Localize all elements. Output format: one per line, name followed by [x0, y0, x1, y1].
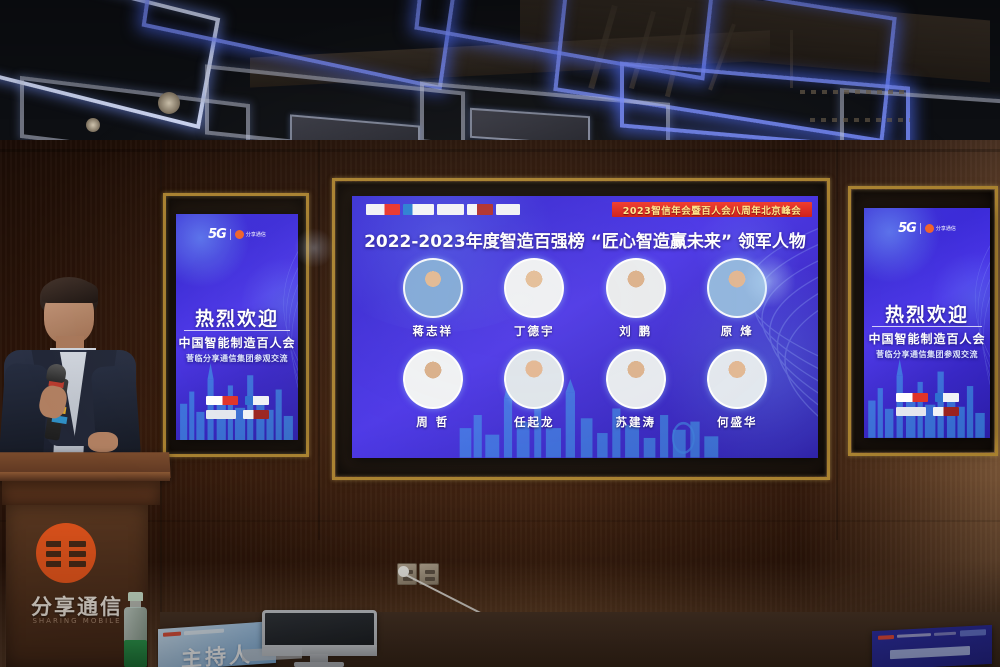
side-right-welcome-3: 菅临分享通信集团参观交流 [864, 349, 990, 360]
side-screen-right: 5G 分享通信 热烈欢迎 中国智能制造百人会 菅临分享通信集团参观交流 [864, 208, 990, 438]
side-left-welcome-3: 菅临分享通信集团参观交流 [176, 353, 298, 364]
leader-item: 何盛华 [687, 349, 789, 430]
side-right-sponsors [864, 393, 990, 416]
side-left-welcome-1: 热烈欢迎 [176, 304, 298, 331]
logo-chip-1 [366, 204, 400, 215]
side-left-brand-label: 分享通信 [246, 231, 266, 238]
side-left-brand: 分享通信 [235, 230, 266, 239]
speaker-hand [88, 432, 118, 452]
sponsor-chip-blue [935, 393, 959, 402]
leader-item: 任起龙 [484, 349, 586, 430]
logo-chip-3 [437, 204, 464, 215]
leader-name: 丁德宇 [514, 323, 555, 339]
side-right-brand: 分享通信 [925, 224, 956, 233]
leader-item: 刘 鹏 [585, 258, 687, 339]
leader-name: 原 烽 [721, 323, 754, 339]
blue-name-card [872, 625, 992, 667]
sponsor-chip-red [896, 393, 928, 402]
water-bottle [120, 592, 150, 667]
ceiling-spotlight [86, 118, 100, 132]
bottle-label [124, 640, 147, 667]
sponsor-chip-gray [896, 407, 926, 416]
logo-chip-5 [496, 204, 520, 215]
main-screen-title: 2022-2023年度智造百强榜 “匠心智造赢未来” 领军人物 [352, 227, 818, 252]
side-left-sponsors [176, 396, 298, 419]
leader-name: 周 哲 [416, 414, 449, 430]
main-screen-sponsor-strip [366, 204, 520, 215]
sponsor-chip-dark [933, 407, 959, 416]
conference-hall-photo: 5G 分享通信 热烈欢迎 中国智能制造百人会 菅临分享通信集团参观交流 [0, 0, 1000, 667]
sponsor-chip-dark [243, 410, 269, 419]
leader-name: 何盛华 [717, 414, 758, 430]
leader-item: 苏建涛 [585, 349, 687, 430]
leader-avatar [606, 258, 666, 318]
side-right-5g-logo: 5G [898, 221, 916, 236]
sponsor-chip-red [206, 396, 238, 405]
leader-item: 周 哲 [382, 349, 484, 430]
leader-name: 刘 鹏 [619, 323, 652, 339]
leader-item: 丁德宇 [484, 258, 586, 339]
side-right-brand-label: 分享通信 [936, 225, 956, 232]
leader-avatar [504, 349, 564, 409]
side-screen-left: 5G 分享通信 热烈欢迎 中国智能制造百人会 菅临分享通信集团参观交流 [176, 214, 298, 440]
logo-chip-4 [467, 204, 493, 215]
leader-avatar [707, 349, 767, 409]
side-right-welcome-1: 热烈欢迎 [864, 300, 990, 327]
leader-avatar [707, 258, 767, 318]
leader-avatar [504, 258, 564, 318]
ceiling-spotlight [158, 92, 180, 114]
leader-item: 蒋志祥 [382, 258, 484, 339]
side-right-welcome-2: 中国智能制造百人会 [864, 330, 990, 347]
event-banner: 2023智信年会暨百人会八周年北京峰会 [612, 202, 812, 217]
leader-name: 苏建涛 [616, 414, 657, 430]
sponsor-chip-blue [245, 396, 269, 405]
leader-name: 蒋志祥 [413, 323, 454, 339]
leader-item: 原 烽 [687, 258, 789, 339]
main-screen: 2023智信年会暨百人会八周年北京峰会 2022-2023年度智造百强榜 “匠心… [352, 196, 818, 458]
ceiling [0, 0, 1000, 150]
leader-name: 任起龙 [514, 414, 555, 430]
leader-avatar [403, 349, 463, 409]
side-left-welcome-2: 中国智能制造百人会 [176, 334, 298, 351]
side-left-5g-logo: 5G [208, 227, 226, 242]
leader-avatar [606, 349, 666, 409]
leaders-grid: 蒋志祥 丁德宇 刘 鹏 原 烽 周 哲 [382, 258, 788, 430]
logo-chip-2 [403, 204, 434, 215]
leader-avatar [403, 258, 463, 318]
sponsor-chip-gray [206, 410, 236, 419]
